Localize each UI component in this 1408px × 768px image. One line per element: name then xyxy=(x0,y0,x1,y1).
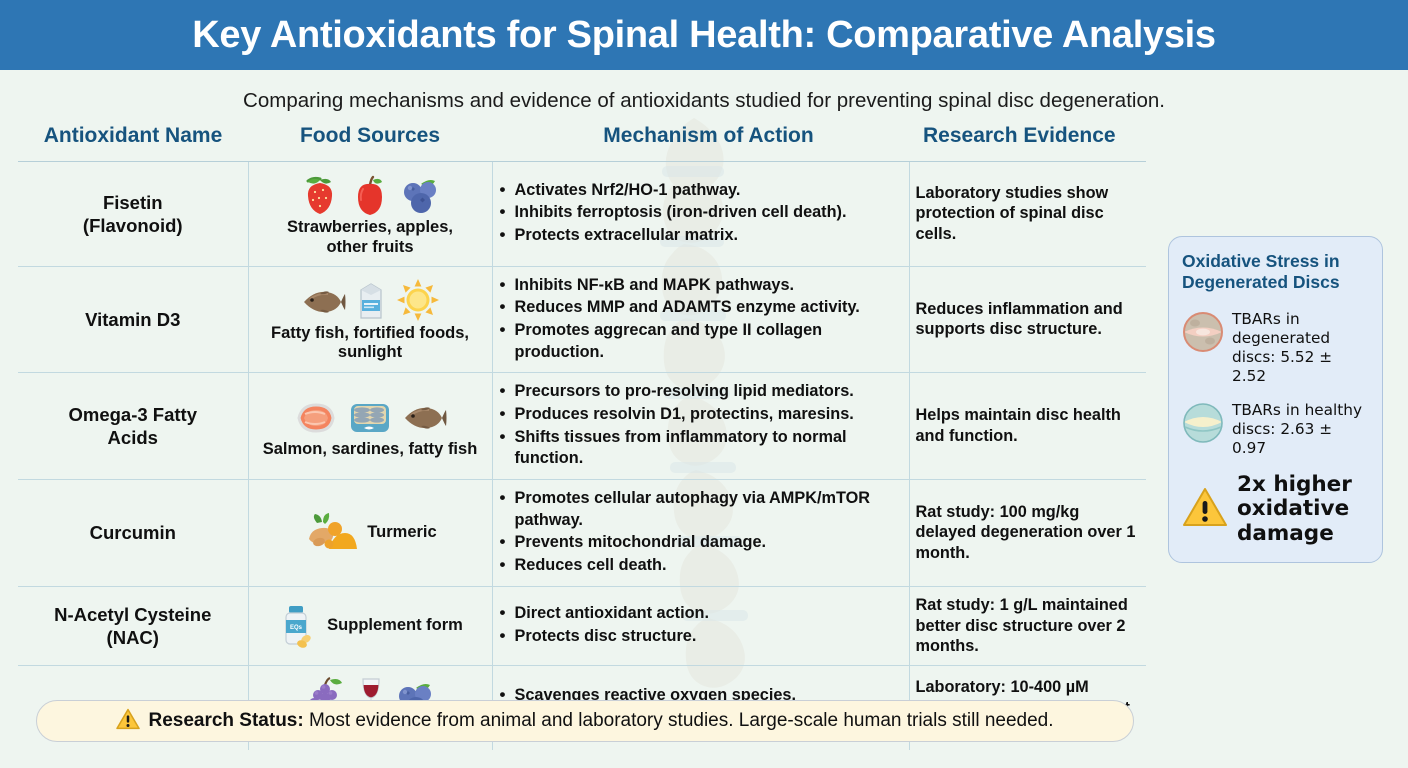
mechanism-list: Promotes cellular autophagy via AMPK/mTO… xyxy=(499,488,903,577)
mechanism-list: Activates Nrf2/HO-1 pathway.Inhibits fer… xyxy=(499,180,903,247)
fish-icon xyxy=(300,280,346,322)
salmon-steak-icon xyxy=(293,398,339,438)
stat-text-degenerated: TBARs in degenerated discs: 5.52 ± 2.52 xyxy=(1232,310,1369,387)
food-source-label-line: Salmon, sardines, fatty fish xyxy=(263,440,478,458)
antioxidant-comparison-table: Antioxidant Name Food Sources Mechanism … xyxy=(18,118,1146,750)
mechanism-list: Inhibits NF-κB and MAPK pathways.Reduces… xyxy=(499,275,903,364)
stat-row-degenerated: TBARs in degenerated discs: 5.52 ± 2.52 xyxy=(1182,310,1369,387)
table-row: N-Acetyl Cysteine(NAC)EQsSupplement form… xyxy=(18,586,1146,666)
oxidative-stress-panel: Oxidative Stress in Degenerated Discs TB… xyxy=(1168,236,1383,563)
stat-row-healthy: TBARs in healthy discs: 2.63 ± 0.97 xyxy=(1182,401,1369,459)
antioxidant-name-line: (NAC) xyxy=(107,627,159,648)
callout-text: 2x higher oxidative damage xyxy=(1237,473,1369,547)
table-row: Omega-3 FattyAcidsSalmon, sardines, fatt… xyxy=(18,373,1146,480)
supplement-bottle-icon: EQs xyxy=(277,603,317,649)
antioxidant-name-line: Acids xyxy=(108,427,158,448)
research-status-body: Most evidence from animal and laboratory… xyxy=(304,710,1054,731)
cell-mechanism-of-action: Direct antioxidant action.Protects disc … xyxy=(492,586,909,666)
food-source-label-line: other fruits xyxy=(326,238,413,256)
mechanism-list-item: Produces resolvin D1, protectins, maresi… xyxy=(499,404,903,426)
food-source-label: Fatty fish, fortified foods,sunlight xyxy=(255,324,486,364)
panel-title: Oxidative Stress in Degenerated Discs xyxy=(1182,251,1369,294)
cell-food-sources: Strawberries, apples,other fruits xyxy=(248,162,492,267)
cell-research-evidence: Reduces inflammation and supports disc s… xyxy=(909,266,1146,373)
cell-antioxidant-name: N-Acetyl Cysteine(NAC) xyxy=(18,586,248,666)
food-source-label-line: Turmeric xyxy=(367,523,436,541)
research-status-label: Research Status: xyxy=(148,710,303,731)
page-subtitle: Comparing mechanisms and evidence of ant… xyxy=(0,70,1408,118)
antioxidant-name-line: (Flavonoid) xyxy=(83,215,183,236)
food-icon-group: EQs xyxy=(277,603,317,649)
antioxidant-name-line: Vitamin D3 xyxy=(85,309,180,330)
column-header-research-evidence: Research Evidence xyxy=(909,118,1146,162)
antioxidant-name-line: N-Acetyl Cysteine xyxy=(54,604,211,625)
mechanism-list-item: Direct antioxidant action. xyxy=(499,603,903,625)
healthy-disc-icon xyxy=(1182,402,1224,449)
mechanism-list-item: Inhibits NF-κB and MAPK pathways. xyxy=(499,275,903,297)
table-row: Vitamin D3Fatty fish, fortified foods,su… xyxy=(18,266,1146,373)
degenerated-disc-icon xyxy=(1182,311,1224,358)
blueberries-icon xyxy=(399,174,441,216)
cell-research-evidence: Helps maintain disc health and function. xyxy=(909,373,1146,480)
callout-row: 2x higher oxidative damage xyxy=(1182,473,1369,547)
cell-mechanism-of-action: Promotes cellular autophagy via AMPK/mTO… xyxy=(492,479,909,586)
cell-research-evidence: Rat study: 1 g/L maintained better disc … xyxy=(909,586,1146,666)
food-icon-group xyxy=(255,170,486,216)
stat-text-healthy: TBARs in healthy discs: 2.63 ± 0.97 xyxy=(1232,401,1369,459)
header-bar: Key Antioxidants for Spinal Health: Comp… xyxy=(0,0,1408,70)
mechanism-list-item: Protects disc structure. xyxy=(499,626,903,648)
warning-triangle-icon xyxy=(1182,486,1228,533)
cell-research-evidence: Rat study: 100 mg/kg delayed degeneratio… xyxy=(909,479,1146,586)
cell-antioxidant-name: Vitamin D3 xyxy=(18,266,248,373)
food-source-label-line: Strawberries, apples, xyxy=(287,218,453,236)
antioxidant-name-line: Curcumin xyxy=(90,522,176,543)
cell-food-sources: Turmeric xyxy=(248,479,492,586)
mechanism-list: Direct antioxidant action.Protects disc … xyxy=(499,603,903,647)
food-source-label: Strawberries, apples,other fruits xyxy=(255,218,486,258)
fish-icon xyxy=(401,396,447,438)
cell-antioxidant-name: Fisetin(Flavonoid) xyxy=(18,162,248,267)
cell-mechanism-of-action: Activates Nrf2/HO-1 pathway.Inhibits fer… xyxy=(492,162,909,267)
sun-icon xyxy=(396,278,440,322)
mechanism-list-item: Precursors to pro-resolving lipid mediat… xyxy=(499,381,903,403)
table-header-row: Antioxidant Name Food Sources Mechanism … xyxy=(18,118,1146,162)
mechanism-list-item: Reduces MMP and ADAMTS enzyme activity. xyxy=(499,297,903,319)
svg-text:EQs: EQs xyxy=(290,625,303,631)
table-row: Fisetin(Flavonoid)Strawberries, apples,o… xyxy=(18,162,1146,267)
food-source-label: Turmeric xyxy=(367,523,436,543)
antioxidant-name-line: Omega-3 Fatty xyxy=(68,404,197,425)
page-title: Key Antioxidants for Spinal Health: Comp… xyxy=(192,14,1216,57)
mechanism-list-item: Inhibits ferroptosis (iron-driven cell d… xyxy=(499,202,903,224)
mechanism-list-item: Protects extracellular matrix. xyxy=(499,225,903,247)
cell-mechanism-of-action: Precursors to pro-resolving lipid mediat… xyxy=(492,373,909,480)
column-header-antioxidant-name: Antioxidant Name xyxy=(18,118,248,162)
cell-antioxidant-name: Curcumin xyxy=(18,479,248,586)
mechanism-list: Precursors to pro-resolving lipid mediat… xyxy=(499,381,903,470)
milk-carton-icon xyxy=(354,278,388,322)
food-source-label-line: Supplement form xyxy=(327,616,463,634)
food-source-label: Salmon, sardines, fatty fish xyxy=(255,440,486,460)
table-body: Fisetin(Flavonoid)Strawberries, apples,o… xyxy=(18,162,1146,751)
column-header-mechanism: Mechanism of Action xyxy=(492,118,909,162)
food-source-inline: Turmeric xyxy=(255,511,486,555)
warning-triangle-icon xyxy=(116,708,140,735)
apple-icon xyxy=(349,174,391,216)
food-source-label-line: sunlight xyxy=(338,343,402,361)
strawberry-icon xyxy=(299,174,341,216)
mechanism-list-item: Promotes cellular autophagy via AMPK/mTO… xyxy=(499,488,903,531)
cell-antioxidant-name: Omega-3 FattyAcids xyxy=(18,373,248,480)
mechanism-list-item: Activates Nrf2/HO-1 pathway. xyxy=(499,180,903,202)
mechanism-list-item: Prevents mitochondrial damage. xyxy=(499,532,903,554)
table-row: CurcuminTurmericPromotes cellular autoph… xyxy=(18,479,1146,586)
sardine-can-icon xyxy=(347,398,393,438)
food-icon-group xyxy=(255,276,486,322)
food-source-label-line: Fatty fish, fortified foods, xyxy=(271,324,469,342)
mechanism-list-item: Shifts tissues from inflammatory to norm… xyxy=(499,427,903,470)
content-area: Antioxidant Name Food Sources Mechanism … xyxy=(0,118,1408,750)
cell-mechanism-of-action: Inhibits NF-κB and MAPK pathways.Reduces… xyxy=(492,266,909,373)
food-icon-group xyxy=(303,511,357,555)
turmeric-icon xyxy=(303,511,357,555)
cell-food-sources: Salmon, sardines, fatty fish xyxy=(248,373,492,480)
antioxidant-name-line: Fisetin xyxy=(103,192,163,213)
food-source-inline: EQsSupplement form xyxy=(255,603,486,649)
research-status-text: Research Status: Most evidence from anim… xyxy=(148,710,1053,732)
cell-research-evidence: Laboratory studies show protection of sp… xyxy=(909,162,1146,267)
food-icon-group xyxy=(255,392,486,438)
column-header-food-sources: Food Sources xyxy=(248,118,492,162)
cell-food-sources: Fatty fish, fortified foods,sunlight xyxy=(248,266,492,373)
food-source-label: Supplement form xyxy=(327,616,463,636)
research-status-banner: Research Status: Most evidence from anim… xyxy=(36,700,1134,742)
mechanism-list-item: Promotes aggrecan and type II collagen p… xyxy=(499,320,903,363)
mechanism-list-item: Reduces cell death. xyxy=(499,555,903,577)
cell-food-sources: EQsSupplement form xyxy=(248,586,492,666)
